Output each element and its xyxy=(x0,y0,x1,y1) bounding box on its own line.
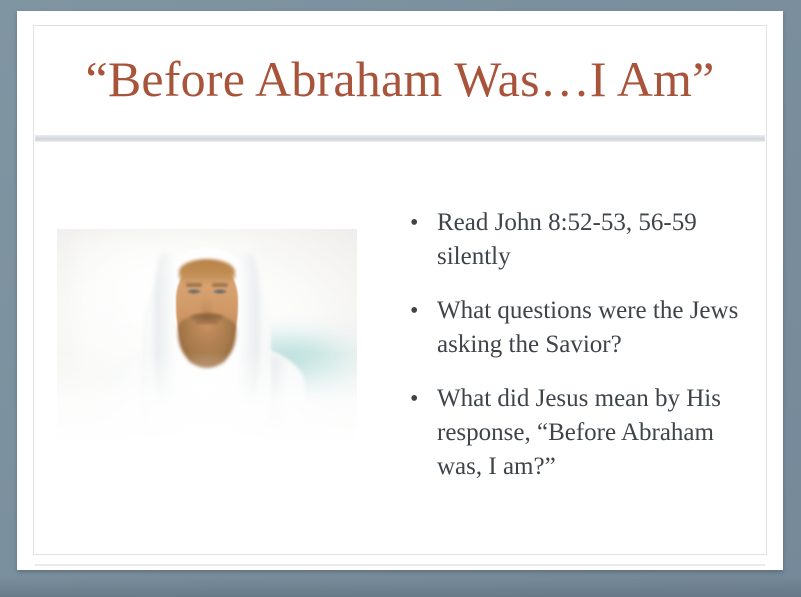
frame-bottom-shadow xyxy=(0,575,801,597)
bullet-point-icon: • xyxy=(410,294,437,328)
bullet-item-1: • Read John 8:52-53, 56-59 silently xyxy=(410,206,760,274)
eyebrow-right xyxy=(212,283,228,287)
footer-divider-line xyxy=(35,564,765,566)
eye-right xyxy=(214,289,227,294)
eye-left xyxy=(188,289,201,294)
title-divider-bar xyxy=(35,135,765,142)
slide-title: “Before Abraham Was…I Am” xyxy=(85,53,714,106)
hair-shape xyxy=(179,259,235,285)
bullet-item-3-text: What did Jesus mean by His response, “Be… xyxy=(437,382,760,484)
bullet-item-1-text: Read John 8:52-53, 56-59 silently xyxy=(437,206,760,274)
slide-body: • Read John 8:52-53, 56-59 silently • Wh… xyxy=(35,144,765,562)
bullet-item-3: • What did Jesus mean by His response, “… xyxy=(410,382,760,484)
slide-canvas: “Before Abraham Was…I Am” xyxy=(17,11,783,570)
slide-outer-frame: “Before Abraham Was…I Am” xyxy=(0,0,801,597)
bullet-item-2-text: What questions were the Jews asking the … xyxy=(437,294,760,362)
bullet-list[interactable]: • Read John 8:52-53, 56-59 silently • Wh… xyxy=(410,206,760,484)
mustache-shape xyxy=(190,313,224,322)
bullet-item-2: • What questions were the Jews asking th… xyxy=(410,294,760,362)
bullet-point-icon: • xyxy=(410,206,437,240)
bullet-point-icon: • xyxy=(410,382,437,416)
mouth-shape xyxy=(196,321,218,324)
jesus-portrait-image[interactable] xyxy=(57,229,357,441)
eyebrow-left xyxy=(186,283,202,287)
slide-title-placeholder[interactable]: “Before Abraham Was…I Am” xyxy=(34,25,766,133)
photo-bottom-fade xyxy=(57,352,357,441)
